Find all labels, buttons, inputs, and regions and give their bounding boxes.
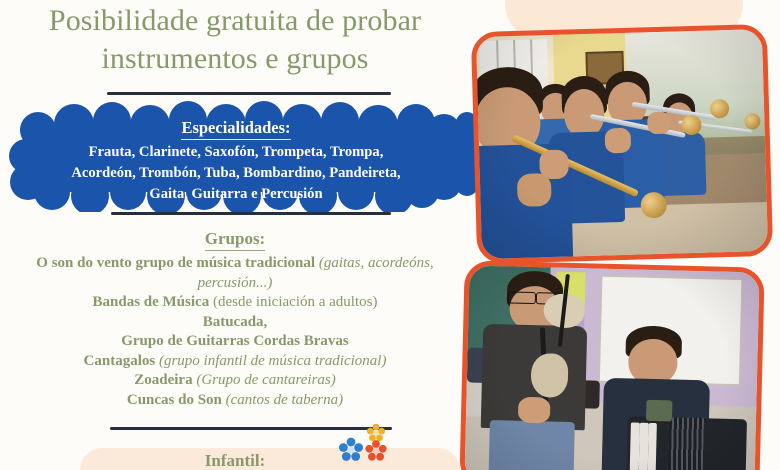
especialidades-title: Especialidades: [181,116,290,140]
grupos-item-name: Cantagalos [84,353,156,369]
grupos-item-name: Bandas de Música [93,294,210,310]
grupos-item-4: Grupo de Guitarras Cordas Bravas [0,332,470,352]
grupos-item-name: Zoadeira [134,372,192,388]
divider-top [107,92,391,95]
flower-yellow-icon [367,424,385,441]
especialidades-text: Especialidades: Frauta, Clarinete, Saxof… [14,116,458,205]
especialidades-line-1: Frauta, Clarinete, Saxofón, Trompeta, Tr… [14,142,458,163]
grupos-item-1: O son do vento grupo de música tradicion… [0,254,470,293]
grupos-item-2: Bandas de Música (desde iniciación a adu… [0,293,470,313]
grupos-item-name: Grupo de Guitarras Cordas Bravas [121,333,349,349]
grupos-item-name: Batucada, [203,314,268,330]
flower-cluster [336,424,398,466]
grupos-section: Grupos: O son do vento grupo de música t… [0,228,470,410]
divider-middle [111,212,391,215]
grupos-item-note: (Grupo de cantareiras) [196,372,335,388]
poster-left-column: Posibilidade gratuita de probar instrume… [0,0,470,470]
grupos-item-7: Cuncas do Son (cantos de taberna) [0,391,470,411]
brass-band-scene [476,29,768,259]
infantil-title: Infantil: [205,451,265,470]
flower-blue-icon [339,438,363,461]
grupos-item-6: Zoadeira (Grupo de cantareiras) [0,371,470,391]
grupos-title: Grupos: [205,228,265,251]
bagpipe-accordion-photo [459,260,764,470]
grupos-item-3: Batucada, [0,313,470,333]
grupos-item-note: (desde iniciación a adultos) [213,294,378,310]
flower-red-icon [365,440,386,461]
especialidades-line-2: Acordeón, Trombón, Tuba, Bombardino, Pan… [14,163,458,184]
brass-band-photo [471,24,773,264]
grupos-item-name: O son do vento grupo de música tradicion… [36,255,315,271]
grupos-item-5: Cantagalos (grupo infantil de música tra… [0,352,470,372]
grupos-item-name: Cuncas do Son [127,392,222,408]
especialidades-line-3: Gaita, Guitarra e Percusión [14,184,458,205]
infantil-heading: Infantil: [0,451,470,470]
grupos-item-note: (grupo infantil de música tradicional) [159,353,386,369]
grupos-item-note: (cantos de taberna) [226,392,343,408]
poster-canvas: Posibilidade gratuita de probar instrume… [0,0,780,470]
headline-line-1: Posibilidade gratuita de probar [0,2,470,40]
bagpipe-accordion-scene [464,265,759,470]
headline-line-2: instrumentos e grupos [0,40,470,78]
page-title: Posibilidade gratuita de probar instrume… [0,2,470,79]
